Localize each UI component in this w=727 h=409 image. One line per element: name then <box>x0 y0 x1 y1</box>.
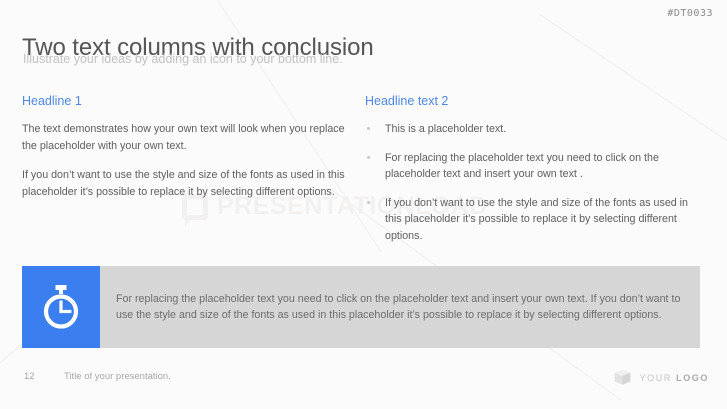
footer-page-number: 12 <box>24 371 35 382</box>
logo-word-1: YOUR <box>640 373 672 383</box>
bullet-dot-icon <box>367 156 370 159</box>
bullet-list: This is a placeholder text. For replacin… <box>365 121 695 244</box>
list-item-text: This is a placeholder text. <box>385 123 506 135</box>
conclusion-text-area: For replacing the placeholder text you n… <box>100 266 700 348</box>
stopwatch-icon <box>39 283 83 331</box>
paragraph: The text demonstrates how your own text … <box>22 121 352 154</box>
list-item: For replacing the placeholder text you n… <box>365 150 695 183</box>
list-item: If you don’t want to use the style and s… <box>365 195 695 245</box>
page-subtitle: Illustrate your ideas by adding an icon … <box>23 52 343 66</box>
bullet-dot-icon <box>367 201 370 204</box>
cube-icon <box>613 368 632 387</box>
conclusion-icon-box <box>22 266 100 348</box>
logo-word-2: LOGO <box>676 373 709 383</box>
footer-title: Title of your presentation. <box>64 371 171 382</box>
conclusion-bar: For replacing the placeholder text you n… <box>22 266 700 348</box>
template-code: #DT0033 <box>667 8 713 19</box>
text-column-left: Headline 1 The text demonstrates how you… <box>22 94 352 200</box>
column-headline-right: Headline text 2 <box>365 94 695 108</box>
text-column-right: Headline text 2 This is a placeholder te… <box>365 94 695 244</box>
list-item: This is a placeholder text. <box>365 121 695 138</box>
logo-text: YOUR LOGO <box>640 373 709 383</box>
paragraph: If you don’t want to use the style and s… <box>22 167 352 200</box>
conclusion-text: For replacing the placeholder text you n… <box>116 291 684 324</box>
slide-canvas: PRESENTATIONLOAD #DT0033 Two text column… <box>0 0 727 409</box>
bullet-dot-icon <box>367 127 370 130</box>
list-item-text: For replacing the placeholder text you n… <box>385 152 659 181</box>
column-headline-left: Headline 1 <box>22 94 352 108</box>
list-item-text: If you don’t want to use the style and s… <box>385 197 688 242</box>
logo: YOUR LOGO <box>613 368 709 387</box>
